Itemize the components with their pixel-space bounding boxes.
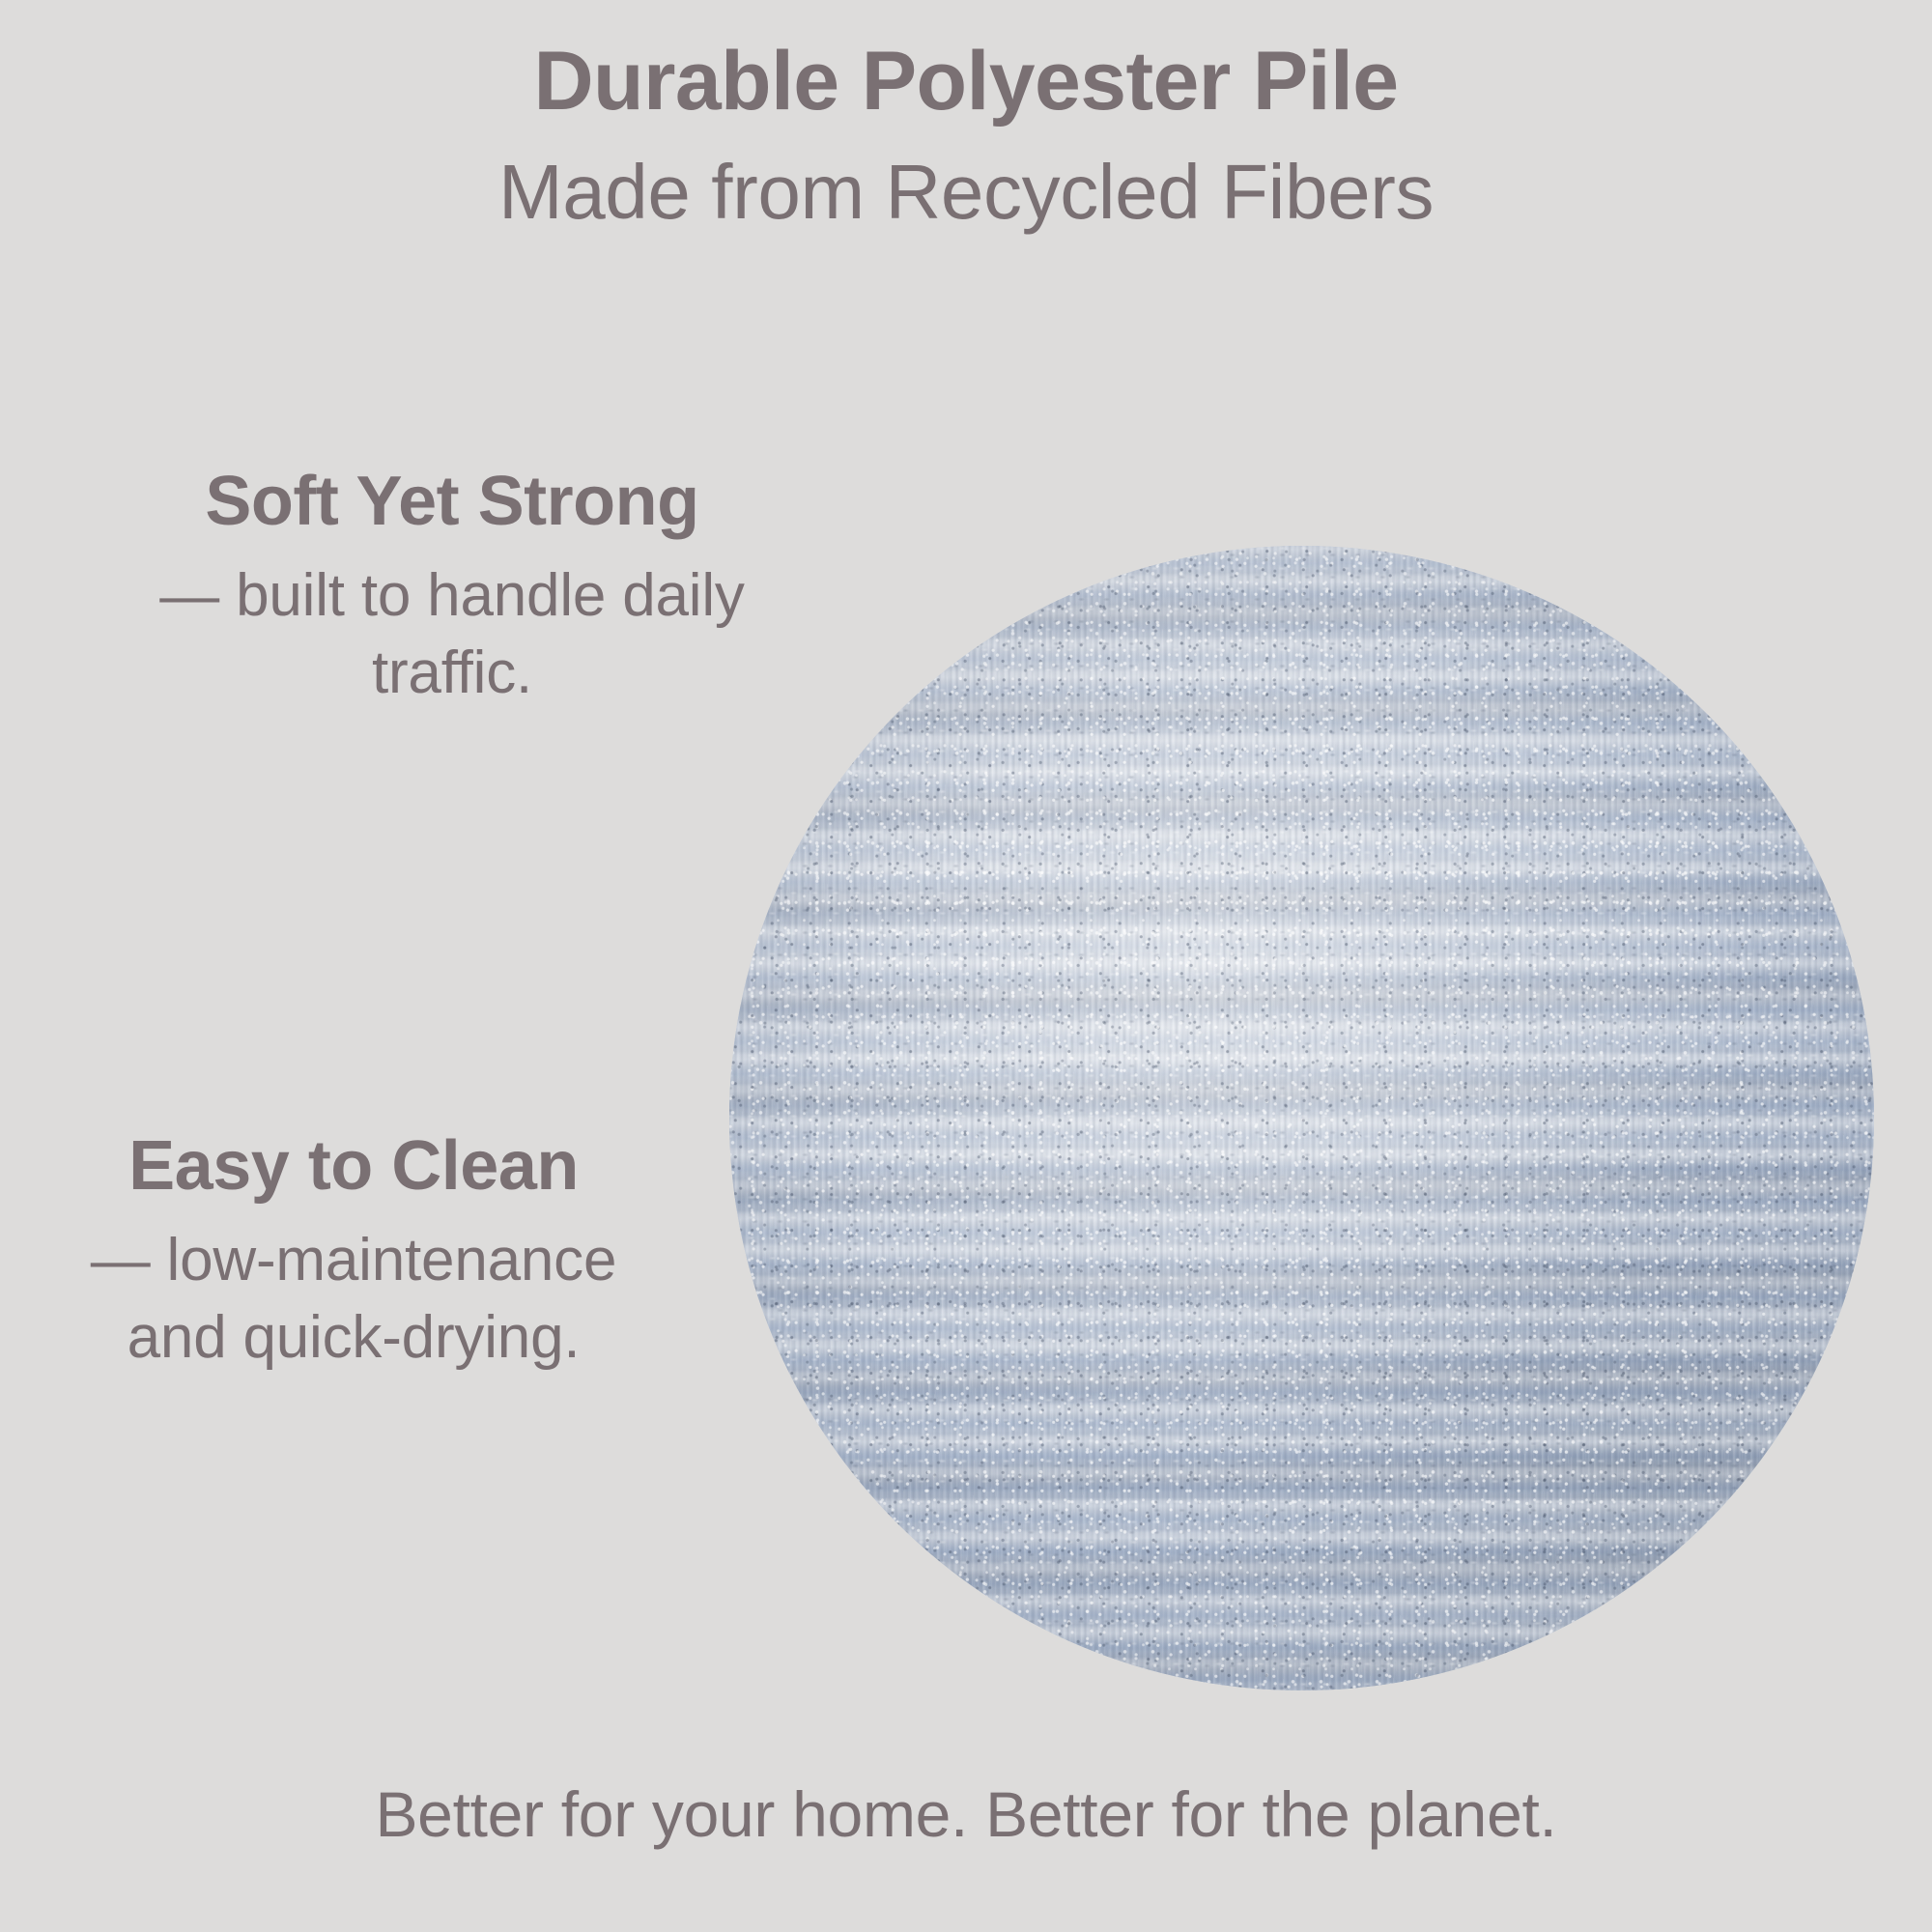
headline-block: Durable Polyester Pile Made from Recycle… [0,33,1932,239]
feature-title: Soft Yet Strong [114,464,790,540]
carpet-texture-swatch [729,546,1874,1690]
headline-primary: Durable Polyester Pile [0,33,1932,130]
feature-description: — low-maintenance and quick-drying. [35,1222,672,1376]
headline-secondary: Made from Recycled Fibers [0,146,1932,239]
feature-soft-yet-strong: Soft Yet Strong — built to handle daily … [114,464,790,711]
feature-description: — built to handle daily traffic. [114,557,790,711]
feature-title: Easy to Clean [35,1128,672,1205]
swatch-vignette [729,546,1874,1690]
footer-tagline: Better for your home. Better for the pla… [0,1777,1932,1851]
product-feature-infographic: Durable Polyester Pile Made from Recycle… [0,0,1932,1932]
feature-easy-to-clean: Easy to Clean — low-maintenance and quic… [35,1128,672,1376]
